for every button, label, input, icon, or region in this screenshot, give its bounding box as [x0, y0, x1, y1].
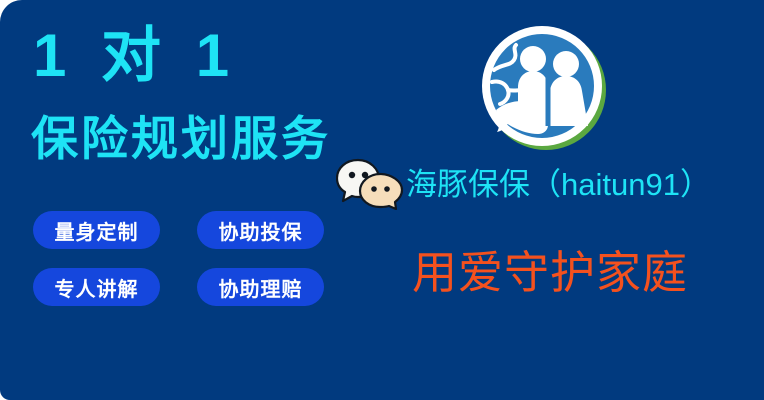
feature-pill-group: 量身定制 协助投保 专人讲解 协助理赔	[33, 211, 343, 306]
wechat-contact[interactable]: 海豚保保（haitun91）	[336, 158, 711, 210]
headline-primary: 1 对 1	[33, 26, 238, 86]
promo-banner: 1 对 1 保险规划服务 量身定制 协助投保 专人讲解 协助理赔	[0, 0, 764, 400]
slogan-text: 用爱守护家庭	[412, 250, 688, 295]
feature-pill-claim[interactable]: 协助理赔	[197, 268, 324, 306]
feature-pill-custom[interactable]: 量身定制	[33, 211, 160, 249]
globe-family-dolphin-icon	[478, 22, 610, 154]
feature-pill-explain[interactable]: 专人讲解	[33, 268, 160, 306]
feature-pill-apply[interactable]: 协助投保	[197, 211, 324, 249]
wechat-id-label: 海豚保保（haitun91）	[406, 169, 711, 200]
wechat-icon	[336, 158, 404, 210]
headline-secondary: 保险规划服务	[31, 115, 331, 162]
